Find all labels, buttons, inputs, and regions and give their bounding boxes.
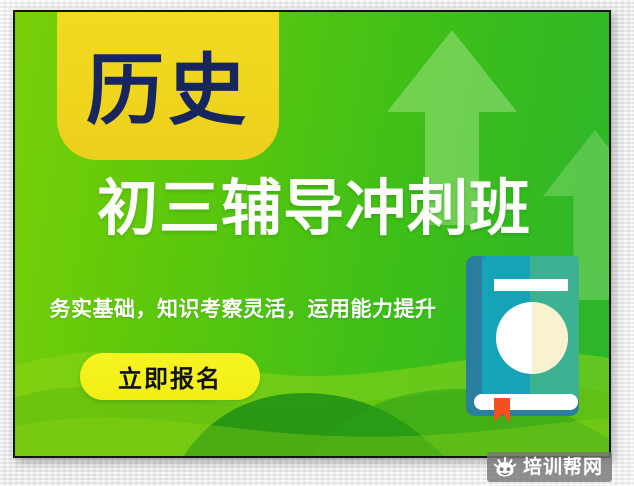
site-watermark: 培训帮网	[487, 452, 612, 482]
subject-badge-label: 历史	[86, 40, 250, 130]
subtitle-text: 务实基础，知识考察灵活，运用能力提升	[23, 293, 463, 323]
bookmark-icon	[494, 398, 510, 422]
course-promo-banner: 历史 初三辅导冲刺班 务实基础，知识考察灵活，运用能力提升 立即报名	[13, 10, 611, 458]
book-title-band	[494, 279, 568, 291]
subject-badge: 历史	[57, 10, 279, 160]
watermark-label: 培训帮网	[523, 458, 603, 477]
enroll-now-label: 立即报名	[118, 359, 222, 394]
page-title: 初三辅导冲刺班	[25, 178, 603, 239]
enroll-now-button[interactable]: 立即报名	[80, 353, 260, 400]
sun-face-icon	[494, 457, 516, 477]
book-icon	[460, 254, 585, 422]
arrow-head	[387, 30, 517, 112]
book-page-band	[474, 394, 578, 410]
